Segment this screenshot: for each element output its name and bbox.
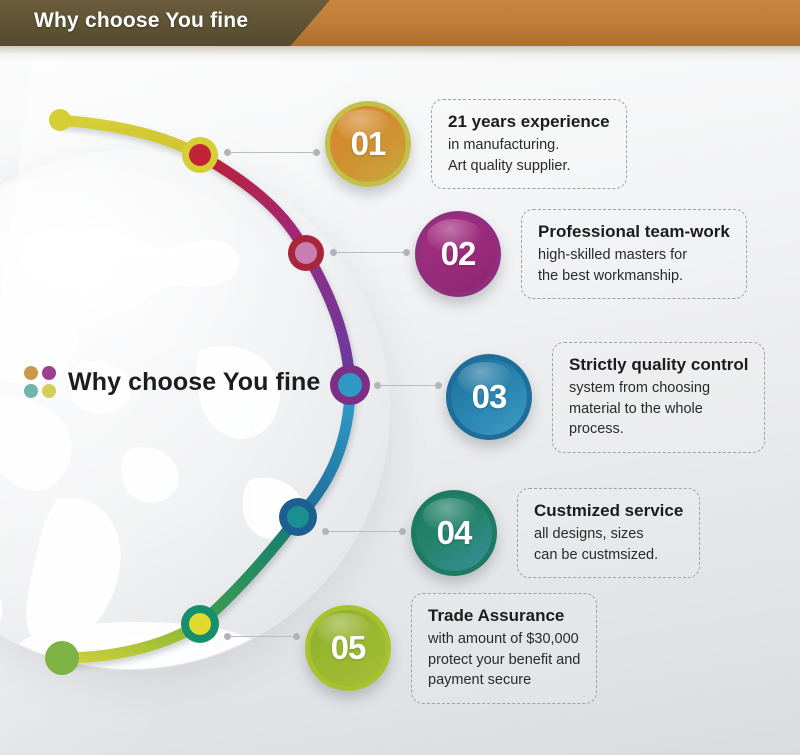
world-map-icon <box>0 150 390 670</box>
step-connector-05 <box>224 632 300 641</box>
step-line-01-1: Art quality supplier. <box>448 156 610 177</box>
connector-line-03 <box>381 385 435 386</box>
step-row-05: 05 Trade Assurance with amount of $30,00… <box>305 593 597 704</box>
step-line-04-1: can be custmsized. <box>534 545 683 566</box>
step-callout-05: Trade Assurance with amount of $30,000 p… <box>411 593 597 704</box>
connector-line-01 <box>231 152 313 153</box>
logo-dot-teal <box>24 384 38 398</box>
step-title-05: Trade Assurance <box>428 605 580 628</box>
four-dots-logo <box>24 366 56 398</box>
connector-dot-end-05 <box>293 633 300 640</box>
step-badge-05[interactable]: 05 <box>305 605 391 691</box>
connector-dot-start-05 <box>224 633 231 640</box>
step-title-03: Strictly quality control <box>569 354 748 377</box>
step-number-05: 05 <box>331 629 366 667</box>
step-number-03: 03 <box>472 378 507 416</box>
brand-lockup: Why choose You fine <box>24 366 320 398</box>
connector-line-04 <box>329 531 399 532</box>
arc-node-03 <box>330 365 370 405</box>
connector-dot-start-01 <box>224 149 231 156</box>
step-number-04: 04 <box>437 514 472 552</box>
arc-node-02 <box>288 235 324 271</box>
logo-dot-yellow <box>42 384 56 398</box>
arc-end-cap-bottom <box>45 641 79 675</box>
page-title: Why choose You fine <box>34 9 248 33</box>
logo-dot-orange <box>24 366 38 380</box>
step-number-02: 02 <box>441 235 476 273</box>
step-badge-03[interactable]: 03 <box>446 354 532 440</box>
step-callout-02: Professional team-work high-skilled mast… <box>521 209 747 299</box>
connector-dot-start-02 <box>330 249 337 256</box>
connector-dot-start-03 <box>374 382 381 389</box>
arc-node-05 <box>181 605 219 643</box>
step-title-02: Professional team-work <box>538 221 730 244</box>
header-shadow <box>0 46 800 62</box>
step-line-05-0: with amount of $30,000 <box>428 629 580 650</box>
connector-dot-start-04 <box>322 528 329 535</box>
step-connector-02 <box>330 248 410 257</box>
arc-end-cap-top <box>49 109 71 131</box>
arc-node-01 <box>182 137 218 173</box>
step-connector-04 <box>322 527 406 536</box>
step-row-02: 02 Professional team-work high-skilled m… <box>415 209 747 299</box>
arc-node-04 <box>279 498 317 536</box>
step-title-04: Custmized service <box>534 500 683 523</box>
step-badge-04[interactable]: 04 <box>411 490 497 576</box>
step-callout-01: 21 years experience in manufacturing. Ar… <box>431 99 627 189</box>
infographic-canvas: Why choose You fine Why choose You fine … <box>0 0 800 755</box>
step-line-01-0: in manufacturing. <box>448 135 610 156</box>
step-title-01: 21 years experience <box>448 111 610 134</box>
step-badge-02[interactable]: 02 <box>415 211 501 297</box>
brand-name: Why choose You fine <box>68 368 320 397</box>
step-row-01: 01 21 years experience in manufacturing.… <box>325 99 627 189</box>
step-row-04: 04 Custmized service all designs, sizes … <box>411 488 700 578</box>
step-callout-03: Strictly quality control system from cho… <box>552 342 765 453</box>
connector-dot-end-04 <box>399 528 406 535</box>
step-row-03: 03 Strictly quality control system from … <box>446 342 765 453</box>
step-connector-01 <box>224 148 320 157</box>
step-line-02-1: the best workmanship. <box>538 266 730 287</box>
step-badge-01[interactable]: 01 <box>325 101 411 187</box>
step-number-01: 01 <box>351 125 386 163</box>
logo-dot-purple <box>42 366 56 380</box>
globe-backdrop <box>0 150 390 670</box>
step-callout-04: Custmized service all designs, sizes can… <box>517 488 700 578</box>
step-line-02-0: high-skilled masters for <box>538 245 730 266</box>
step-line-04-0: all designs, sizes <box>534 524 683 545</box>
step-line-05-1: protect your benefit and <box>428 650 580 671</box>
connector-line-05 <box>231 636 293 637</box>
step-line-03-2: process. <box>569 419 748 440</box>
connector-dot-end-02 <box>403 249 410 256</box>
connector-line-02 <box>337 252 403 253</box>
header-banner: Why choose You fine <box>0 0 800 46</box>
step-line-03-1: material to the whole <box>569 399 748 420</box>
connector-dot-end-01 <box>313 149 320 156</box>
step-line-05-2: payment secure <box>428 670 580 691</box>
step-line-03-0: system from choosing <box>569 378 748 399</box>
connector-dot-end-03 <box>435 382 442 389</box>
globe-sphere <box>0 150 390 670</box>
step-connector-03 <box>374 381 442 390</box>
